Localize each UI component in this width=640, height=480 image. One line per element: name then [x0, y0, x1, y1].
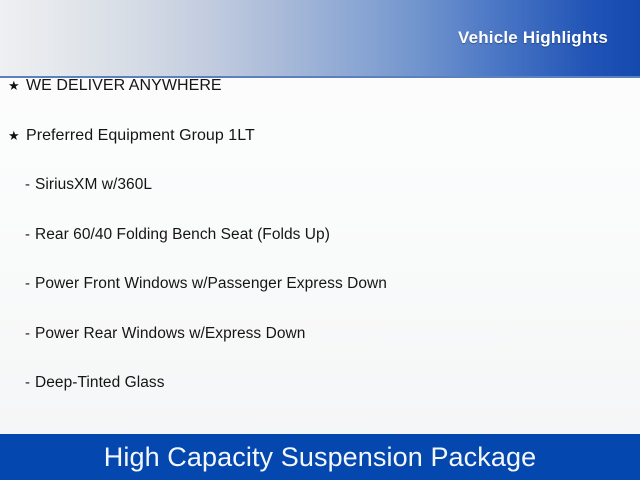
header-banner: Vehicle Highlights	[0, 0, 640, 78]
list-item-label: Rear 60/40 Folding Bench Seat (Folds Up)	[35, 227, 330, 243]
highlights-list: ★ WE DELIVER ANYWHERE ★ Preferred Equipm…	[0, 78, 640, 425]
list-item: - Power Front Windows w/Passenger Expres…	[0, 276, 640, 326]
star-bullet-icon: ★	[8, 79, 26, 92]
dash-bullet-icon: -	[25, 177, 35, 192]
list-item-label: Power Rear Windows w/Express Down	[35, 326, 305, 342]
dash-bullet-icon: -	[25, 326, 35, 341]
star-bullet-icon: ★	[8, 129, 26, 142]
footer-title: High Capacity Suspension Package	[104, 444, 536, 471]
list-item: - Rear 60/40 Folding Bench Seat (Folds U…	[0, 227, 640, 277]
list-item-label: SiriusXM w/360L	[35, 177, 152, 193]
list-item: - Deep-Tinted Glass	[0, 375, 640, 425]
dash-bullet-icon: -	[25, 276, 35, 291]
list-item: ★ WE DELIVER ANYWHERE	[0, 78, 640, 128]
list-item-label: WE DELIVER ANYWHERE	[26, 78, 222, 94]
list-item: - Power Rear Windows w/Express Down	[0, 326, 640, 376]
page-title: Vehicle Highlights	[458, 28, 608, 48]
list-item-label: Preferred Equipment Group 1LT	[26, 128, 255, 144]
dash-bullet-icon: -	[25, 227, 35, 242]
list-item-label: Deep-Tinted Glass	[35, 375, 165, 391]
highlights-panel: ★ WE DELIVER ANYWHERE ★ Preferred Equipm…	[0, 78, 640, 434]
list-item-label: Power Front Windows w/Passenger Express …	[35, 276, 387, 292]
list-item: ★ Preferred Equipment Group 1LT	[0, 128, 640, 178]
vehicle-highlights-slide: Vehicle Highlights ★ WE DELIVER ANYWHERE…	[0, 0, 640, 480]
footer-banner: High Capacity Suspension Package	[0, 434, 640, 480]
dash-bullet-icon: -	[25, 375, 35, 390]
list-item: - SiriusXM w/360L	[0, 177, 640, 227]
